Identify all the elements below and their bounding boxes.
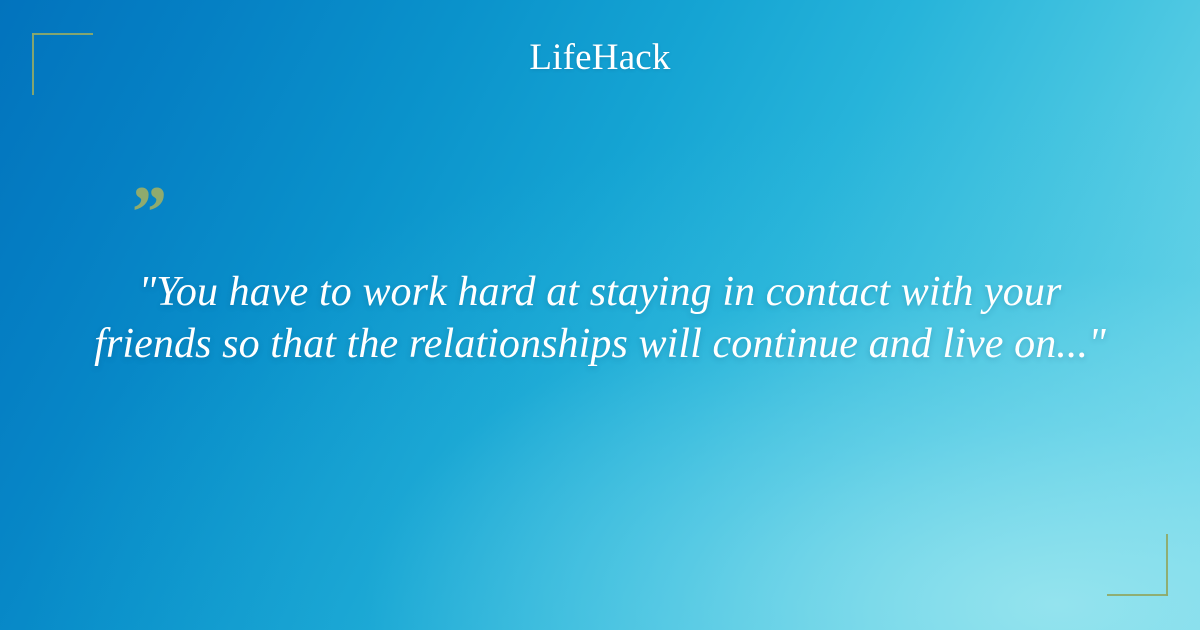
corner-bracket-bottom-right bbox=[1107, 534, 1168, 596]
quote-card: LifeHack ” "You have to work hard at sta… bbox=[0, 0, 1200, 630]
quotation-mark-icon: ” bbox=[128, 176, 164, 250]
bracket-horizontal-rule bbox=[1107, 594, 1168, 596]
quote-text: "You have to work hard at staying in con… bbox=[80, 266, 1120, 370]
quote-block: "You have to work hard at staying in con… bbox=[80, 266, 1120, 370]
bracket-vertical-rule bbox=[1166, 534, 1168, 596]
brand-logo: LifeHack bbox=[0, 39, 1200, 76]
bracket-horizontal-rule bbox=[32, 33, 93, 35]
